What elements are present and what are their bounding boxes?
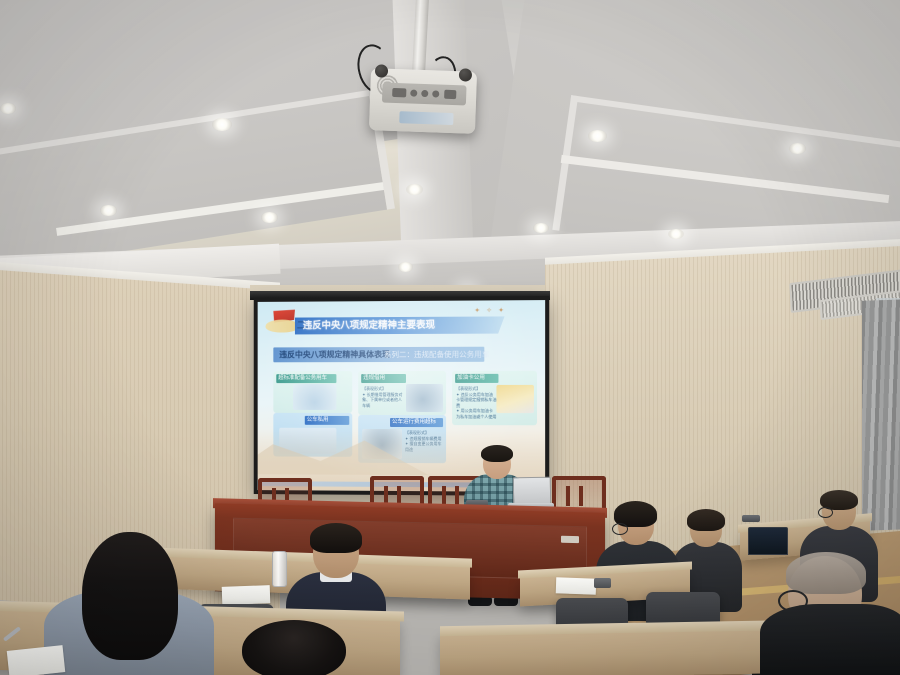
- projector-zoom-knob: [459, 68, 472, 81]
- audience-a3-head: [242, 620, 346, 675]
- ceiling-downlight: [398, 262, 413, 272]
- slide-card-1: 超标准配备公务用车: [273, 371, 352, 413]
- audience-a1-long-hair: [82, 532, 178, 660]
- ceiling-downlight: [212, 118, 232, 131]
- glasses-icon: [612, 523, 628, 535]
- audience-a7-hair: [786, 552, 866, 594]
- slide-title: 违反中央八项规定精神主要表现: [303, 318, 508, 333]
- audience-laptop[interactable]: [748, 527, 788, 555]
- ceiling-downlight: [100, 205, 117, 216]
- audience-a7-jacket-lower: [760, 604, 900, 675]
- slide-card-3: 违规借用 【表现形式】 ✦ 长期借用管理服务对象、下属单位或者他人车辆: [358, 371, 446, 415]
- slide-card-3-label: 违规借用: [361, 374, 406, 383]
- laptop[interactable]: [513, 477, 552, 507]
- slide-emblem: [265, 308, 298, 334]
- slide-card-3-body: 【表现形式】 ✦ 长期借用管理服务对象、下属单位或者他人车辆: [362, 386, 404, 408]
- ribbon-icon: [265, 320, 298, 333]
- handout-paper[interactable]: [222, 585, 271, 605]
- slide-card-3-thumb: [406, 384, 443, 412]
- audience-member-a1: [44, 538, 214, 675]
- slide-card-2-label: 公车私用: [305, 416, 349, 425]
- conference-room-screenshot: ✦ ✧ ✦ 二、 违反中央八项规定精神主要表现 违反中央八项规定精神具体表现 系…: [0, 0, 900, 675]
- slide-card-1-label: 超标准配备公务用车: [276, 374, 336, 383]
- audience-device[interactable]: [742, 515, 760, 522]
- thermos-tumbler[interactable]: [272, 551, 287, 587]
- audience-member-a3: [216, 620, 376, 675]
- notes-paper[interactable]: [7, 645, 66, 675]
- ceiling-downlight: [533, 223, 549, 233]
- handout-paper[interactable]: [556, 577, 597, 594]
- podium-plate: [561, 536, 579, 543]
- ceiling-downlight: [789, 143, 806, 154]
- audience-a2-hair: [310, 523, 362, 553]
- smartphone[interactable]: [594, 578, 611, 588]
- ceiling-downlight: [0, 103, 16, 114]
- ceiling-downlight: [406, 184, 423, 195]
- slide-card-5-label: 加油卡公用: [455, 374, 498, 383]
- projector-brand-label: [399, 111, 453, 125]
- slide-card-4-label: 公车运行费用超标: [390, 418, 443, 427]
- slide-card-1-thumb: [293, 384, 336, 410]
- ceiling-downlight: [261, 212, 278, 223]
- slide-card-5: 加油卡公用 【表现形式】 ✦ 违反公务用车加油卡管理规定报销私车油费 ✦ 用公务…: [452, 371, 537, 426]
- slide-card-5-thumb: [496, 385, 534, 413]
- projector: [369, 68, 477, 134]
- presenter-hair: [481, 445, 513, 462]
- slide-card-5-body: 【表现形式】 ✦ 违反公务用车加油卡管理规定报销私车油费 ✦ 用公务用车加油卡为…: [456, 386, 496, 419]
- projector-port: [444, 90, 456, 99]
- glasses-icon: [818, 507, 833, 518]
- ceiling-downlight: [668, 229, 684, 239]
- ceiling-downlight: [588, 130, 607, 142]
- slide-subtitle-left: 违反中央八项规定精神具体表现: [279, 348, 390, 362]
- audience-a5-hair: [687, 509, 725, 531]
- slide-subtitle-right: 系列二：违规配备使用公务用车: [384, 348, 489, 362]
- projector-port: [392, 88, 406, 97]
